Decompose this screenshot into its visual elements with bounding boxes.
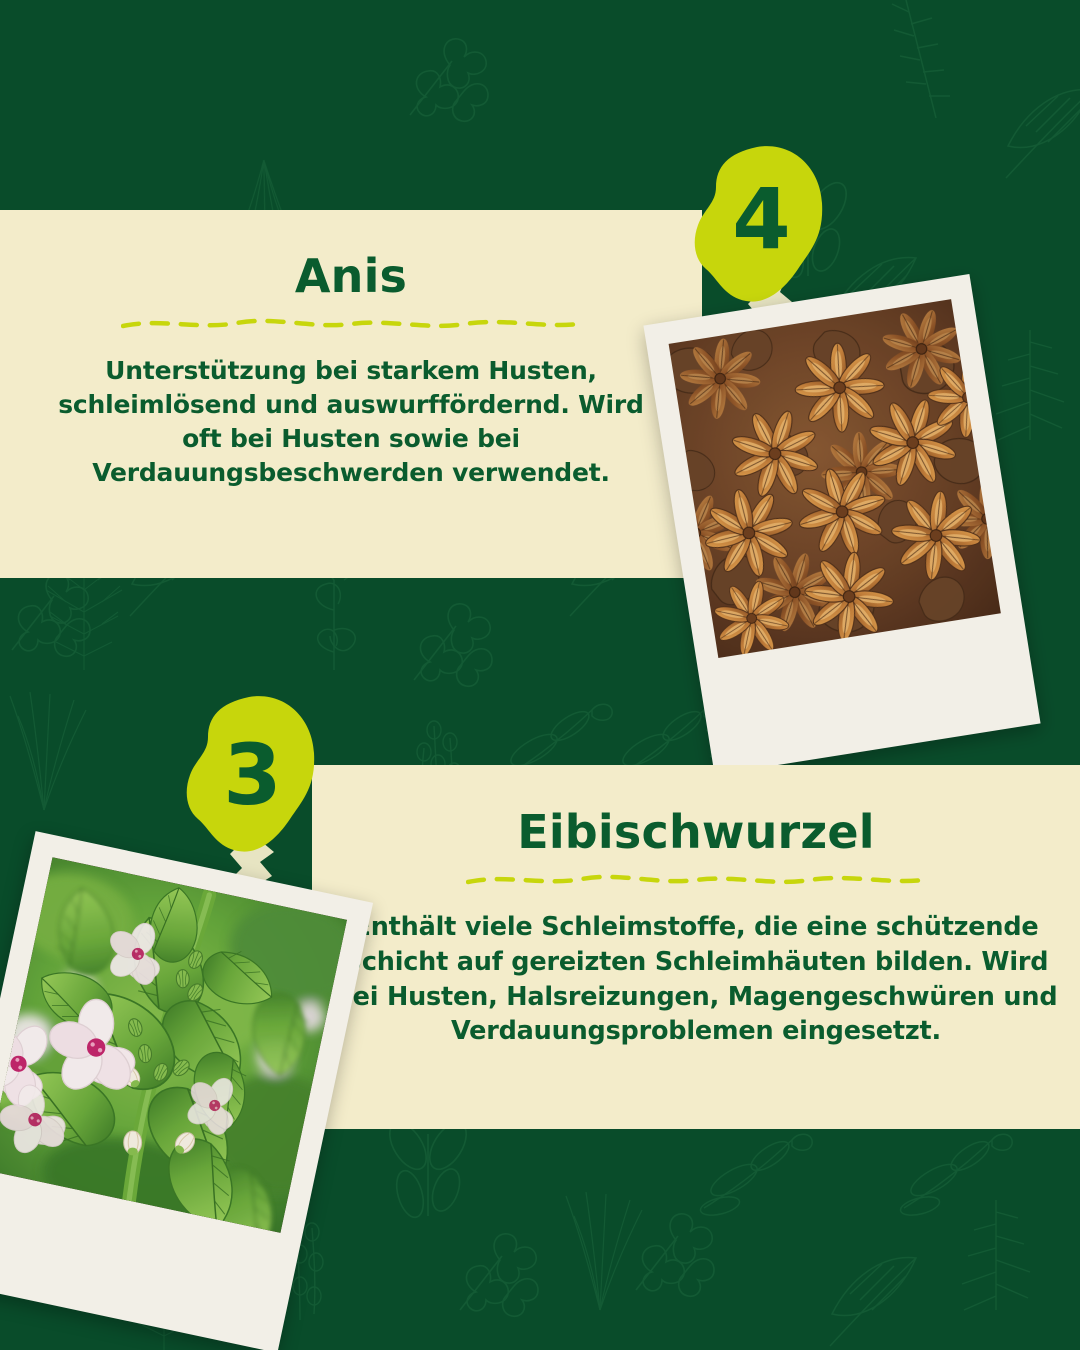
card-content-eibischwurzel: Eibischwurzel Enthält viele Schleimstoff…	[312, 808, 1080, 1049]
card-content-anis: Anis Unterstützung bei starkem Husten, s…	[0, 252, 702, 490]
photo-anis	[669, 299, 1001, 658]
photo-card-eibischwurzel	[0, 831, 373, 1350]
step-number-4: 4	[732, 177, 789, 261]
wavy-dashed-divider-anis	[121, 316, 581, 332]
step-number-3: 3	[223, 733, 280, 817]
infographic-slide: Anis Unterstützung bei starkem Husten, s…	[0, 0, 1080, 1350]
wavy-dashed-divider-eibischwurzel	[466, 872, 926, 888]
photo-card-anis	[643, 274, 1040, 775]
step-badge-3: 3	[186, 695, 316, 855]
herb-description-eibischwurzel: Enthält viele Schleimstoffe, die eine sc…	[326, 910, 1066, 1049]
herb-title-eibischwurzel: Eibischwurzel	[312, 808, 1080, 856]
herb-title-anis: Anis	[0, 252, 702, 300]
photo-eibischwurzel	[0, 857, 347, 1233]
step-badge-4: 4	[694, 145, 824, 305]
herb-description-anis: Unterstützung bei starkem Husten, schlei…	[39, 354, 664, 490]
